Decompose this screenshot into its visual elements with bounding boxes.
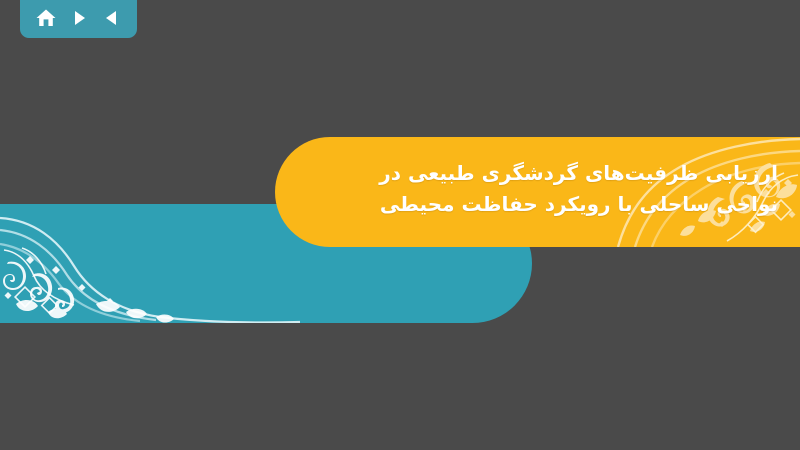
arabesque-corner-ornament [0, 204, 300, 323]
slide-canvas: ارزیابی ظرفیت‌های گردشگری طبیعی در نواحی… [0, 0, 800, 450]
title-line-1: ارزیابی ظرفیت‌های گردشگری طبیعی در [308, 158, 778, 189]
slide-title: ارزیابی ظرفیت‌های گردشگری طبیعی در نواحی… [308, 158, 778, 220]
forward-icon [69, 8, 89, 28]
back-icon [102, 8, 122, 28]
back-button[interactable] [99, 5, 125, 31]
title-line-2: نواحی ساحلی با رویکرد حفاظت محیطی [308, 189, 778, 220]
home-icon [35, 7, 57, 29]
forward-button[interactable] [66, 5, 92, 31]
home-button[interactable] [33, 5, 59, 31]
navigation-bar[interactable] [20, 0, 137, 38]
